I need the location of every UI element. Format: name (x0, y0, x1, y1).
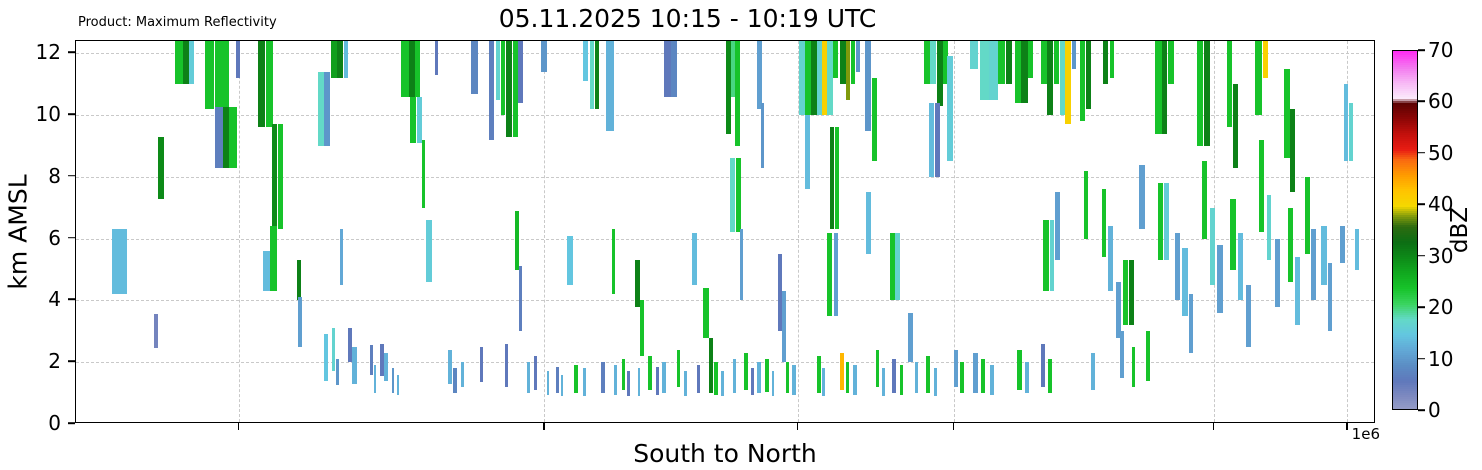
reflectivity-column (1084, 41, 1089, 423)
reflectivity-column (1025, 41, 1029, 423)
product-annotation: Product: Maximum Reflectivity (78, 15, 277, 30)
reflectivity-cell (827, 233, 832, 316)
reflectivity-column (882, 41, 885, 423)
reflectivity-column (744, 41, 748, 423)
reflectivity-heatmap (76, 41, 1374, 422)
reflectivity-column (1259, 41, 1264, 423)
reflectivity-cell (189, 41, 194, 84)
reflectivity-column (1275, 41, 1280, 423)
reflectivity-column (751, 41, 754, 423)
reflectivity-column (740, 41, 743, 423)
reflectivity-column (1311, 41, 1316, 423)
reflectivity-column (336, 41, 339, 423)
reflectivity-cell (505, 344, 508, 387)
reflectivity-column (175, 41, 183, 423)
reflectivity-column (1048, 41, 1052, 423)
reflectivity-cell (1311, 229, 1316, 300)
reflectivity-column (1267, 41, 1272, 423)
reflectivity-cell (374, 365, 377, 393)
reflectivity-column (519, 41, 522, 423)
colorbar-tick-label: 20 (1428, 295, 1453, 319)
y-tick-mark (68, 113, 75, 115)
reflectivity-column (1120, 41, 1124, 423)
reflectivity-column (556, 41, 559, 423)
x-tick-mark (953, 423, 955, 430)
reflectivity-column (384, 41, 388, 423)
reflectivity-cell (908, 313, 913, 362)
colorbar-tick-mark (1418, 255, 1425, 257)
reflectivity-cell (384, 353, 388, 381)
reflectivity-column (397, 41, 399, 423)
reflectivity-cell (215, 107, 223, 167)
reflectivity-column (840, 41, 844, 423)
reflectivity-cell (1246, 285, 1251, 347)
reflectivity-column (648, 41, 652, 423)
reflectivity-column (853, 41, 857, 423)
reflectivity-cell (733, 359, 736, 393)
reflectivity-column (215, 41, 223, 423)
reflectivity-column (1288, 41, 1293, 423)
reflectivity-column (505, 41, 508, 423)
reflectivity-column (471, 41, 478, 423)
reflectivity-column (448, 41, 453, 423)
reflectivity-cell (1055, 192, 1060, 260)
reflectivity-cell (1275, 239, 1280, 307)
y-tick-label: 0 (48, 411, 61, 435)
reflectivity-column (1164, 41, 1169, 423)
reflectivity-cell (1006, 41, 1013, 84)
y-tick-label: 2 (48, 349, 61, 373)
reflectivity-cell (934, 368, 937, 396)
reflectivity-cell (561, 375, 563, 397)
reflectivity-column (392, 41, 395, 423)
reflectivity-cell (1267, 195, 1272, 260)
reflectivity-cell (426, 220, 432, 282)
reflectivity-cell (1202, 161, 1207, 238)
reflectivity-column (692, 41, 697, 423)
reflectivity-column (567, 41, 572, 423)
y-tick-mark (68, 299, 75, 301)
reflectivity-cell (1321, 226, 1327, 285)
colorbar-tick-mark (1418, 49, 1425, 51)
reflectivity-cell (721, 371, 724, 396)
reflectivity-cell (595, 41, 600, 109)
reflectivity-column (601, 41, 605, 423)
reflectivity-cell (1139, 165, 1145, 230)
reflectivity-cell (926, 356, 930, 393)
reflectivity-column (765, 41, 769, 423)
reflectivity-column (822, 41, 825, 423)
reflectivity-cell (1168, 41, 1174, 84)
reflectivity-column (656, 41, 659, 423)
reflectivity-column (1139, 41, 1145, 423)
reflectivity-column (761, 41, 764, 423)
reflectivity-cell (270, 226, 277, 291)
reflectivity-cell (352, 347, 357, 384)
reflectivity-column (1210, 41, 1216, 423)
reflectivity-cell (622, 359, 625, 390)
y-tick-label: 12 (36, 40, 61, 64)
y-tick-mark (68, 175, 75, 177)
reflectivity-column (640, 41, 644, 423)
x-axis: South to North 1e6 (75, 423, 1375, 470)
colorbar (1392, 50, 1418, 410)
colorbar-tick-mark (1418, 101, 1425, 103)
reflectivity-cell (1189, 294, 1194, 353)
reflectivity-cell (1182, 248, 1188, 316)
reflectivity-column (1158, 41, 1163, 423)
reflectivity-cell (1295, 257, 1300, 325)
reflectivity-cell (709, 338, 713, 394)
reflectivity-column (638, 41, 641, 423)
x-axis-title: South to North (75, 439, 1375, 468)
reflectivity-cell (435, 41, 439, 75)
reflectivity-cell (1048, 359, 1052, 393)
reflectivity-column (1041, 41, 1046, 423)
reflectivity-cell (792, 365, 795, 394)
reflectivity-column (453, 41, 457, 423)
reflectivity-cell (765, 359, 769, 391)
reflectivity-column (1065, 41, 1071, 423)
y-axis-title: km AMSL (4, 122, 33, 342)
reflectivity-column (1006, 41, 1013, 423)
reflectivity-cell (215, 41, 223, 107)
reflectivity-column (1217, 41, 1222, 423)
reflectivity-cell (757, 362, 761, 393)
reflectivity-column (489, 41, 494, 423)
reflectivity-cell (496, 41, 500, 100)
colorbar-segment (1393, 409, 1417, 410)
reflectivity-cell (998, 41, 1006, 84)
reflectivity-column (947, 41, 953, 423)
reflectivity-column (627, 41, 630, 423)
reflectivity-column (270, 41, 277, 423)
reflectivity-cell (519, 266, 522, 331)
reflectivity-column (772, 41, 775, 423)
reflectivity-cell (601, 362, 605, 393)
reflectivity-cell (853, 365, 857, 394)
reflectivity-cell (990, 365, 994, 394)
reflectivity-column (583, 41, 586, 423)
reflectivity-column (1175, 41, 1180, 423)
chart-root: 05.11.2025 10:15 - 10:19 UTC Product: Ma… (0, 0, 1482, 470)
reflectivity-column (278, 41, 283, 423)
reflectivity-cell (236, 41, 240, 78)
reflectivity-cell (973, 353, 978, 393)
reflectivity-column (721, 41, 724, 423)
reflectivity-cell (1132, 347, 1136, 387)
reflectivity-cell (786, 362, 789, 393)
reflectivity-cell (817, 356, 821, 393)
reflectivity-cell (1230, 199, 1235, 270)
reflectivity-cell (761, 103, 764, 168)
reflectivity-cell (1072, 41, 1077, 69)
reflectivity-column (332, 41, 335, 423)
reflectivity-column (973, 41, 978, 423)
reflectivity-column (915, 41, 919, 423)
reflectivity-column (662, 41, 665, 423)
reflectivity-cell (401, 41, 409, 97)
reflectivity-column (158, 41, 164, 423)
reflectivity-column (614, 41, 617, 423)
reflectivity-cell (1175, 233, 1180, 301)
reflectivity-column (677, 41, 681, 423)
reflectivity-cell (740, 229, 743, 300)
reflectivity-cell (527, 362, 530, 393)
reflectivity-cell (453, 368, 457, 393)
reflectivity-column (340, 41, 343, 423)
reflectivity-column (1340, 41, 1345, 423)
reflectivity-cell (547, 371, 550, 394)
reflectivity-column (786, 41, 789, 423)
reflectivity-column (892, 41, 896, 423)
reflectivity-cell (1108, 226, 1113, 291)
reflectivity-cell (772, 371, 775, 396)
reflectivity-column (1132, 41, 1136, 423)
reflectivity-cell (677, 350, 681, 387)
reflectivity-cell (1065, 41, 1071, 124)
reflectivity-cell (410, 97, 416, 143)
y-tick-label: 10 (36, 102, 61, 126)
reflectivity-column (1055, 41, 1060, 423)
reflectivity-column (1230, 41, 1235, 423)
reflectivity-column (866, 41, 871, 423)
reflectivity-cell (1328, 263, 1333, 331)
reflectivity-column (1305, 41, 1310, 423)
reflectivity-cell (175, 41, 183, 84)
reflectivity-column (1102, 41, 1107, 423)
y-tick-mark (68, 422, 75, 424)
reflectivity-column (981, 41, 986, 423)
colorbar-tick-mark (1418, 409, 1425, 411)
reflectivity-column (1017, 41, 1022, 423)
reflectivity-cell (627, 371, 630, 396)
reflectivity-column (410, 41, 416, 423)
y-tick-mark (68, 237, 75, 239)
reflectivity-cell (556, 367, 559, 393)
reflectivity-cell (1210, 208, 1216, 285)
reflectivity-column (622, 41, 625, 423)
reflectivity-cell (1158, 183, 1163, 260)
reflectivity-column (1182, 41, 1188, 423)
reflectivity-column (954, 41, 959, 423)
colorbar-tick-mark (1418, 203, 1425, 205)
reflectivity-column (709, 41, 713, 423)
reflectivity-cell (471, 41, 478, 94)
reflectivity-column (990, 41, 994, 423)
reflectivity-cell (583, 368, 586, 396)
reflectivity-cell (697, 365, 700, 393)
reflectivity-cell (900, 365, 903, 394)
reflectivity-column (590, 41, 595, 423)
reflectivity-column (792, 41, 795, 423)
reflectivity-cell (1025, 362, 1029, 393)
reflectivity-column (1202, 41, 1207, 423)
reflectivity-column (374, 41, 377, 423)
colorbar-tick-mark (1418, 152, 1425, 154)
reflectivity-cell (662, 362, 665, 393)
reflectivity-cell (263, 251, 270, 291)
x-tick-mark (543, 423, 545, 430)
reflectivity-cell (954, 350, 959, 387)
reflectivity-column (324, 41, 328, 423)
reflectivity-cell (397, 375, 399, 395)
reflectivity-cell (574, 365, 578, 393)
reflectivity-cell (1146, 331, 1151, 380)
colorbar-tick-mark (1418, 358, 1425, 360)
reflectivity-cell (692, 233, 697, 286)
reflectivity-cell (480, 347, 483, 383)
reflectivity-column (112, 41, 127, 423)
reflectivity-cell (751, 368, 754, 394)
reflectivity-column (263, 41, 270, 423)
y-tick-mark (68, 360, 75, 362)
reflectivity-cell (448, 350, 453, 384)
y-tick-label: 6 (48, 226, 61, 250)
x-axis-offset-label: 1e6 (1352, 425, 1380, 443)
reflectivity-cell (638, 368, 641, 396)
reflectivity-column (480, 41, 483, 423)
reflectivity-column (534, 41, 538, 423)
x-tick-mark (238, 423, 240, 430)
reflectivity-column (998, 41, 1006, 423)
reflectivity-cell (1102, 189, 1107, 257)
reflectivity-column (435, 41, 439, 423)
reflectivity-column (733, 41, 736, 423)
reflectivity-cell (1355, 229, 1359, 269)
reflectivity-column (926, 41, 930, 423)
x-tick-mark (1213, 423, 1215, 430)
reflectivity-cell (960, 362, 964, 393)
reflectivity-cell (882, 368, 885, 396)
y-axis: km AMSL 024681012 (0, 40, 75, 423)
colorbar-tick-label: 50 (1428, 141, 1453, 165)
reflectivity-column (574, 41, 578, 423)
reflectivity-cell (332, 328, 335, 371)
reflectivity-cell (1259, 140, 1264, 233)
reflectivity-column (834, 41, 838, 423)
reflectivity-column (1189, 41, 1194, 423)
reflectivity-cell (981, 359, 986, 393)
reflectivity-cell (866, 192, 871, 254)
reflectivity-cell (158, 137, 164, 199)
y-tick-label: 4 (48, 287, 61, 311)
reflectivity-cell (278, 124, 283, 229)
reflectivity-column (908, 41, 913, 423)
reflectivity-column (934, 41, 937, 423)
reflectivity-column (352, 41, 357, 423)
colorbar-tick-label: 0 (1428, 398, 1441, 422)
colorbar-tick-label: 60 (1428, 89, 1453, 113)
reflectivity-cell (1091, 353, 1095, 390)
reflectivity-column (461, 41, 464, 423)
reflectivity-cell (461, 362, 464, 387)
reflectivity-column (684, 41, 687, 423)
reflectivity-column (960, 41, 964, 423)
reflectivity-cell (590, 41, 595, 109)
reflectivity-column (496, 41, 500, 423)
reflectivity-column (1146, 41, 1151, 423)
reflectivity-cell (112, 229, 127, 294)
reflectivity-column (1072, 41, 1077, 423)
reflectivity-cell (744, 353, 748, 390)
reflectivity-cell (1349, 103, 1353, 162)
reflectivity-column (1108, 41, 1113, 423)
y-tick-label: 8 (48, 164, 61, 188)
reflectivity-column (1295, 41, 1300, 423)
colorbar-title: dBZ (1447, 170, 1473, 290)
reflectivity-column (1246, 41, 1251, 423)
reflectivity-cell (1164, 183, 1169, 260)
reflectivity-cell (840, 353, 844, 390)
reflectivity-cell (489, 41, 494, 140)
reflectivity-column (876, 41, 880, 423)
reflectivity-column (697, 41, 700, 423)
reflectivity-cell (1084, 171, 1089, 239)
reflectivity-column (298, 41, 302, 423)
reflectivity-cell (915, 362, 919, 393)
colorbar-gradient (1392, 50, 1418, 410)
colorbar-tick-mark (1418, 306, 1425, 308)
plot-area (75, 40, 1375, 423)
reflectivity-cell (567, 236, 572, 285)
reflectivity-cell (1238, 233, 1243, 301)
reflectivity-cell (714, 362, 718, 394)
reflectivity-cell (648, 356, 652, 390)
colorbar-tick-label: 10 (1428, 347, 1453, 371)
reflectivity-column (1328, 41, 1333, 423)
reflectivity-cell (656, 367, 659, 395)
x-tick-mark (797, 423, 799, 430)
reflectivity-column (236, 41, 240, 423)
reflectivity-cell (1305, 177, 1310, 254)
reflectivity-cell (876, 350, 880, 387)
reflectivity-column (1349, 41, 1353, 423)
reflectivity-cell (947, 56, 953, 161)
colorbar-tick-label: 70 (1428, 38, 1453, 62)
reflectivity-cell (805, 115, 810, 189)
reflectivity-column (1238, 41, 1243, 423)
reflectivity-cell (1017, 350, 1022, 390)
reflectivity-cell (892, 359, 896, 393)
reflectivity-cell (1041, 344, 1046, 387)
reflectivity-cell (223, 41, 229, 107)
reflectivity-cell (1217, 245, 1222, 313)
reflectivity-column (900, 41, 903, 423)
reflectivity-cell (534, 356, 538, 390)
reflectivity-cell (846, 362, 849, 393)
reflectivity-column (827, 41, 832, 423)
reflectivity-cell (614, 365, 617, 394)
reflectivity-column (401, 41, 409, 423)
reflectivity-cell (1288, 208, 1293, 282)
reflectivity-column (846, 41, 849, 423)
reflectivity-cell (223, 107, 229, 167)
reflectivity-column (426, 41, 432, 423)
reflectivity-cell (336, 359, 339, 385)
reflectivity-column (527, 41, 530, 423)
reflectivity-column (223, 41, 229, 423)
reflectivity-cell (1120, 331, 1124, 377)
reflectivity-cell (834, 233, 838, 316)
reflectivity-column (595, 41, 600, 423)
x-tick-mark (1346, 423, 1348, 430)
reflectivity-column (817, 41, 821, 423)
reflectivity-column (1321, 41, 1327, 423)
reflectivity-cell (822, 368, 825, 396)
reflectivity-cell (298, 297, 302, 346)
reflectivity-cell (1340, 226, 1345, 263)
